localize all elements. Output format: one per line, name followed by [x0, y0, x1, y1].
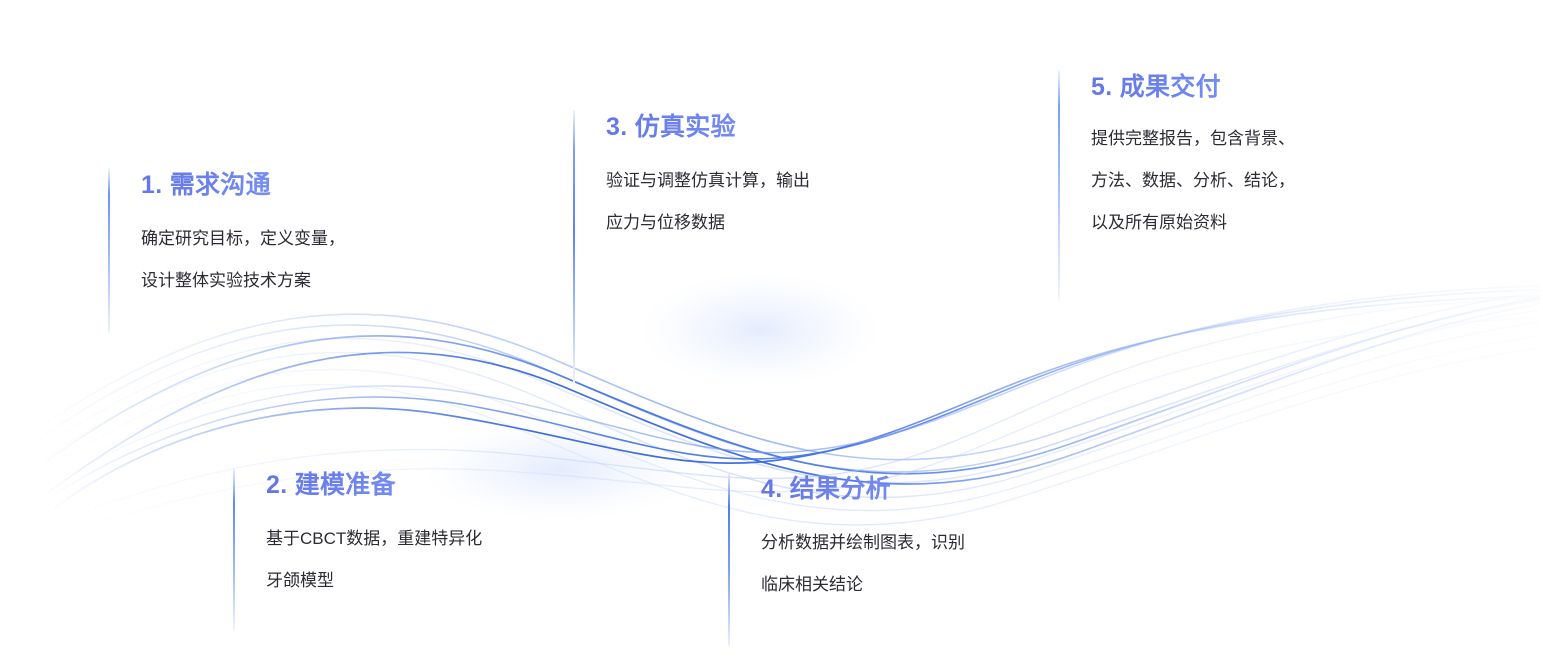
step-description-line: 应力与位移数据 — [606, 202, 923, 244]
step-description-line: 确定研究目标，定义变量， — [141, 218, 438, 260]
wave-strand — [30, 292, 1540, 460]
step-description-line: 分析数据并绘制图表，识别 — [761, 522, 1078, 564]
wave-strand — [54, 286, 1540, 482]
wave-strand — [26, 300, 1540, 472]
wave-strand — [48, 290, 1540, 498]
step-accent-line — [233, 468, 235, 630]
infographic-canvas: 1. 需求沟通 确定研究目标，定义变量， 设计整体实验技术方案 2. 建模准备 … — [0, 0, 1543, 668]
step-item-2: 2. 建模准备 基于CBCT数据，重建特异化 牙颌模型 — [233, 468, 583, 602]
step-description: 验证与调整仿真计算，输出 应力与位移数据 — [606, 160, 923, 244]
step-description-line: 以及所有原始资料 — [1091, 202, 1398, 244]
step-description-line: 提供完整报告，包含背景、 — [1091, 118, 1398, 160]
step-title: 4. 结果分析 — [761, 472, 1078, 506]
step-item-1: 1. 需求沟通 确定研究目标，定义变量， 设计整体实验技术方案 — [108, 168, 438, 302]
step-item-4: 4. 结果分析 分析数据并绘制图表，识别 临床相关结论 — [728, 472, 1078, 606]
wave-glow — [630, 268, 890, 392]
step-accent-line — [108, 168, 110, 333]
step-description-line: 方法、数据、分析、结论， — [1091, 160, 1398, 202]
step-description: 确定研究目标，定义变量， 设计整体实验技术方案 — [141, 218, 438, 302]
step-description-line: 基于CBCT数据，重建特异化 — [266, 518, 583, 560]
wave-strand — [22, 310, 1540, 483]
step-title: 1. 需求沟通 — [141, 168, 438, 202]
step-title: 3. 仿真实验 — [606, 110, 923, 144]
step-description-line: 临床相关结论 — [761, 564, 1078, 606]
step-accent-line — [728, 472, 730, 646]
step-description-line: 牙颌模型 — [266, 560, 583, 602]
step-accent-line — [573, 110, 575, 386]
step-item-5: 5. 成果交付 提供完整报告，包含背景、 方法、数据、分析、结论， 以及所有原始… — [1058, 70, 1398, 244]
step-description-line: 设计整体实验技术方案 — [141, 260, 438, 302]
step-description: 提供完整报告，包含背景、 方法、数据、分析、结论， 以及所有原始资料 — [1091, 118, 1398, 244]
step-description-line: 验证与调整仿真计算，输出 — [606, 160, 923, 202]
step-title: 2. 建模准备 — [266, 468, 583, 502]
step-item-3: 3. 仿真实验 验证与调整仿真计算，输出 应力与位移数据 — [573, 110, 923, 244]
step-description: 基于CBCT数据，重建特异化 牙颌模型 — [266, 518, 583, 602]
wave-strand — [34, 298, 1540, 474]
step-description: 分析数据并绘制图表，识别 临床相关结论 — [761, 522, 1078, 606]
step-title: 5. 成果交付 — [1091, 70, 1398, 104]
step-accent-line — [1058, 70, 1060, 300]
